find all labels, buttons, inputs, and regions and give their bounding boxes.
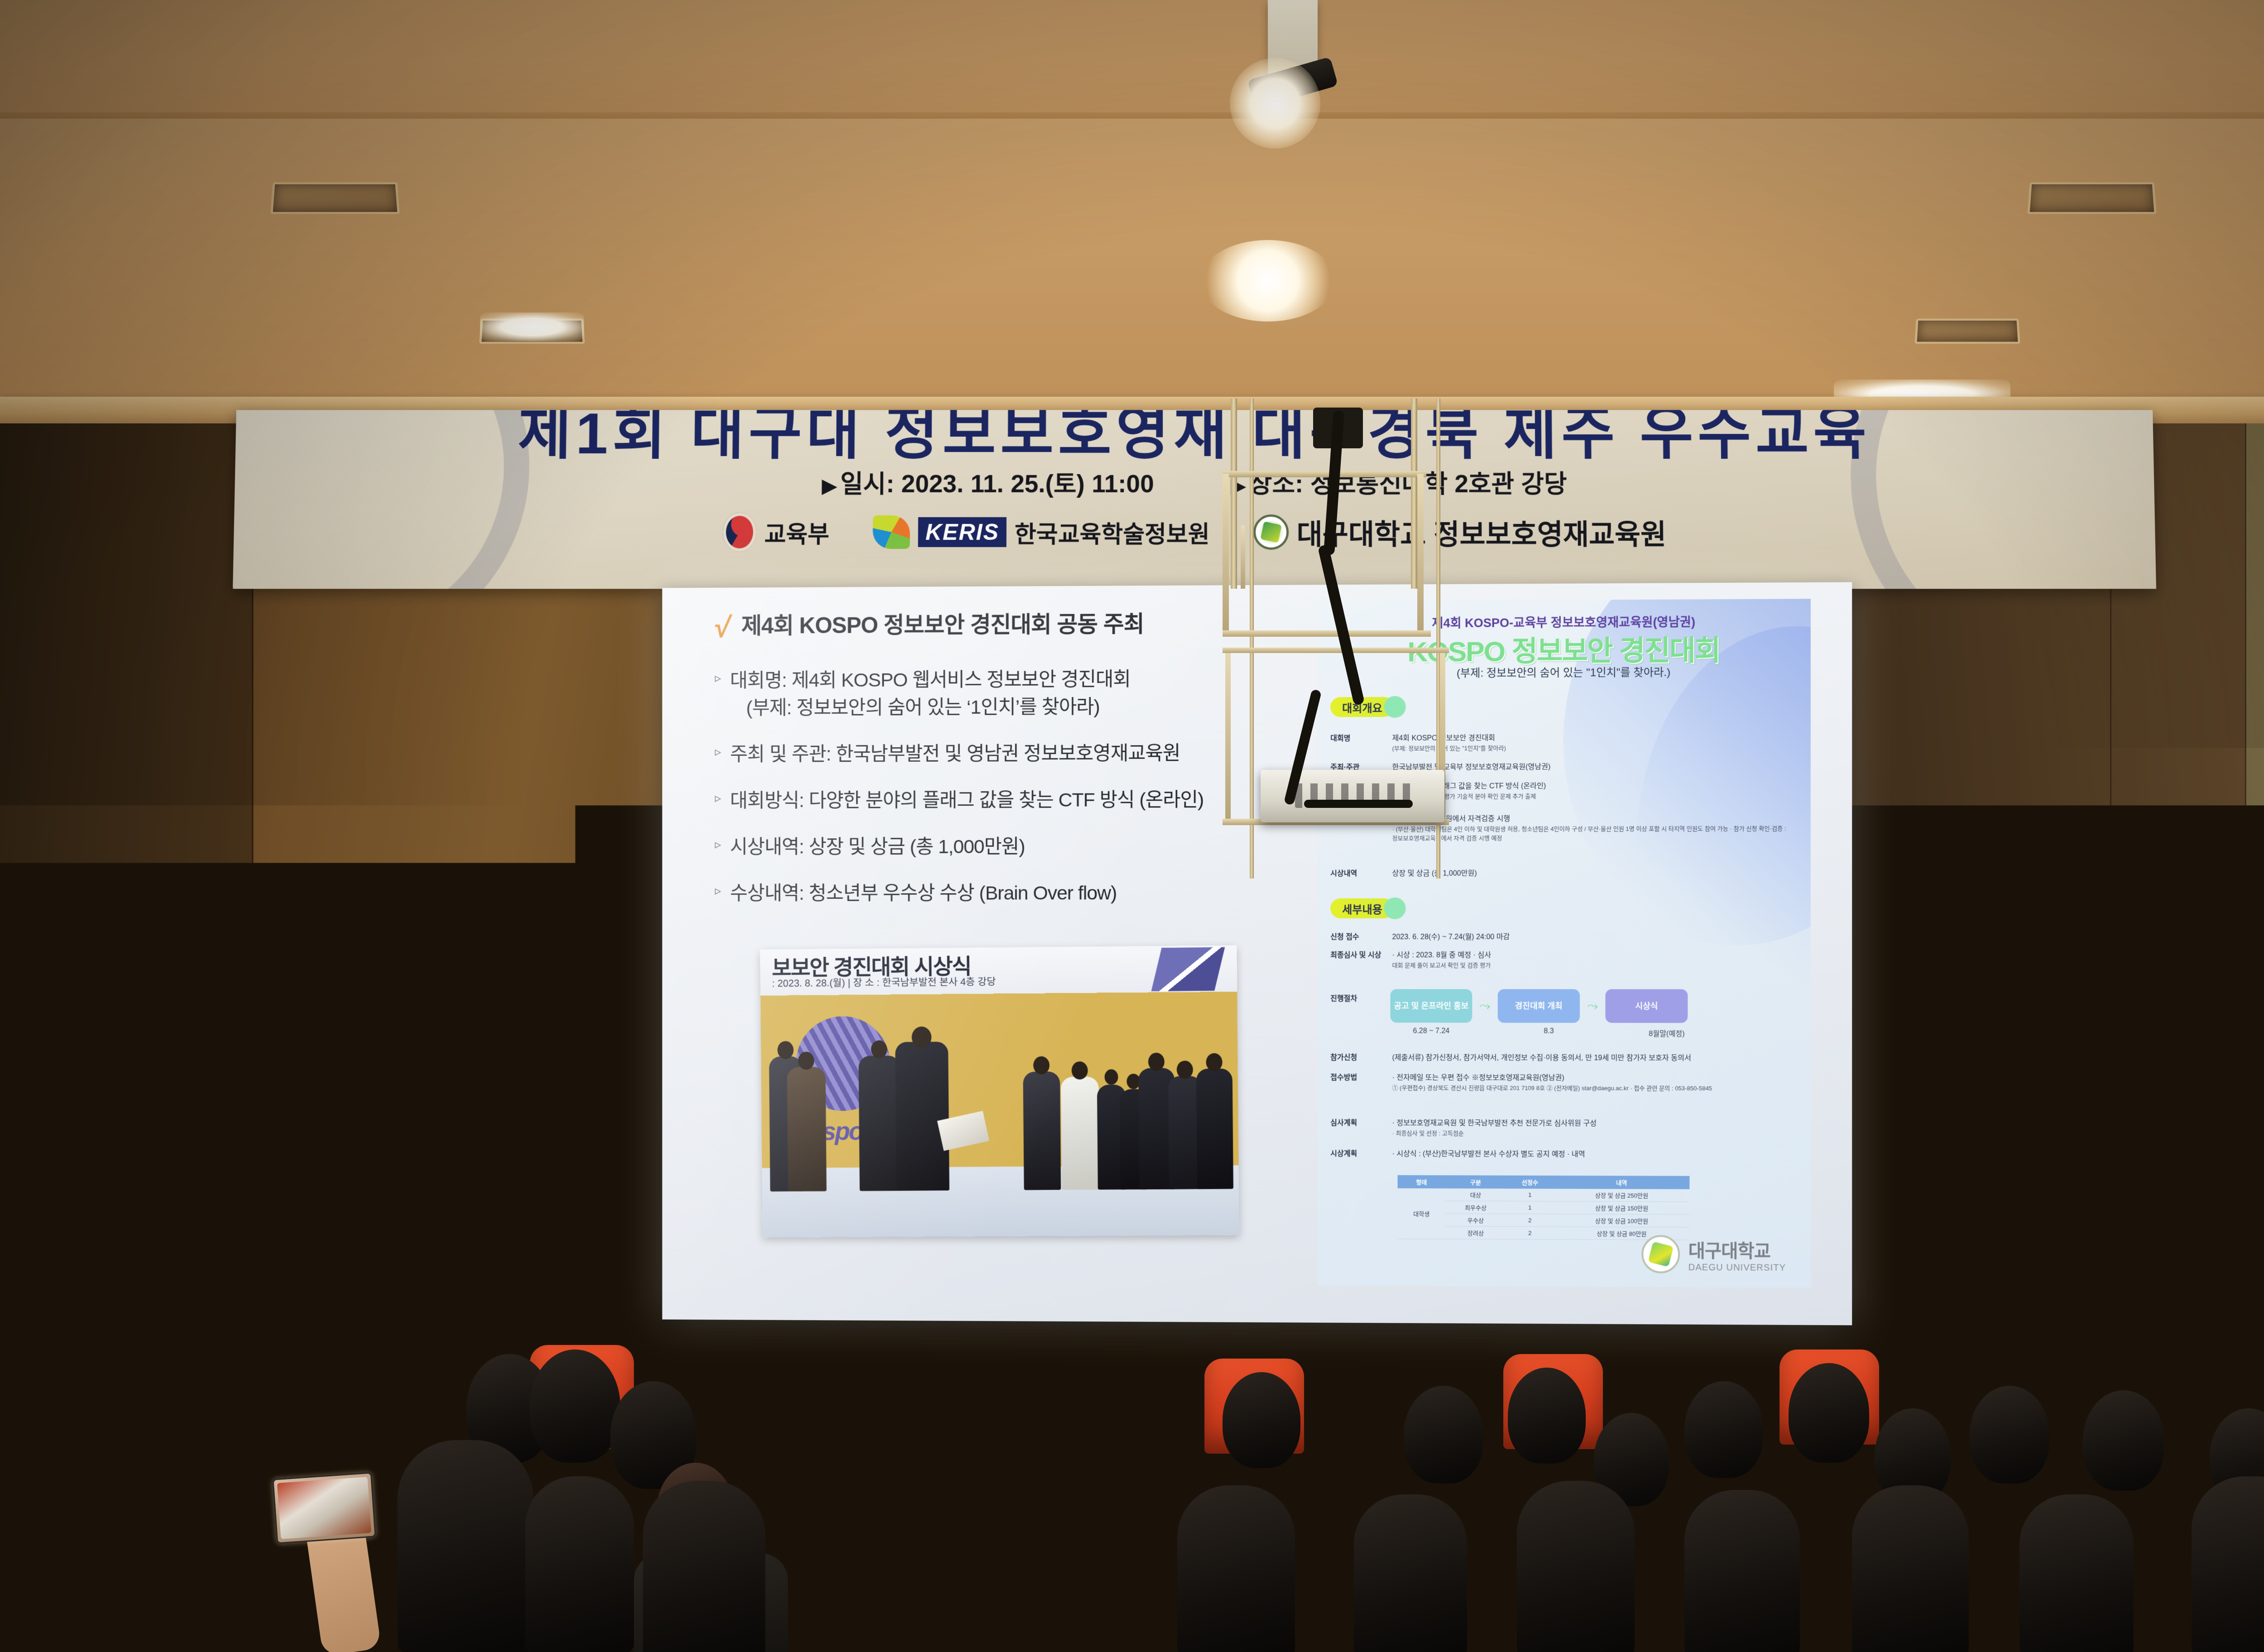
audience-head (299, 1395, 357, 1467)
projector-crossbar-mid-r (1417, 474, 1424, 637)
projection-screen: √ 제4회 KOSPO 정보보안 경진대회 공동 주최 ▹ 대회명: 제4회 K… (662, 582, 1852, 1325)
projector-rod-left-2 (1250, 399, 1254, 879)
downlight-1 (1200, 240, 1336, 322)
audience-head (1789, 1363, 1869, 1463)
audience-head (1508, 1368, 1586, 1464)
audience-head-front (1852, 1485, 1969, 1652)
audience-head-front (847, 1494, 960, 1652)
keris-logo-label: 한국교육학술정보원 (1015, 515, 1210, 549)
triangle-icon: ▶ (822, 475, 837, 496)
banner-info-row: ▶일시: 2023. 11. 25.(토) 11:00 ▶장소: 정보통신대학 … (235, 463, 2154, 499)
downlight-3 (480, 312, 584, 341)
wall-right-light-panel (2246, 423, 2264, 1356)
projector-crossbar-bottom (1223, 630, 1431, 637)
moe-logo: 교육부 (723, 513, 830, 552)
audience-head (2083, 1390, 2164, 1491)
projector-crossbar-mid (1223, 474, 1229, 637)
av-equipment-label (2173, 1295, 2204, 1300)
daegu-univ-logo: 대구대학교 정보보호영재교육원 (1253, 512, 1667, 552)
projector-hook (1241, 525, 1245, 589)
audience-head-front (1684, 1490, 1800, 1652)
audience-head-front (398, 1440, 533, 1652)
projector-cable-loop (1304, 800, 1413, 808)
audience-head (1684, 1381, 1763, 1478)
spotlight-glow (1230, 58, 1320, 149)
projector-frame-top (1223, 648, 1449, 653)
audience-head-front (1354, 1494, 1467, 1652)
ceiling-vent-1 (270, 182, 399, 214)
banner-logo-row: 교육부 KERIS 한국교육학술정보원 대구대학교 정보보호영재교육원 (234, 512, 2156, 552)
audience-head-front (102, 1413, 252, 1652)
audience-head-front (643, 1481, 765, 1652)
audience-head-front (2192, 1476, 2264, 1652)
ceiling (0, 0, 2264, 119)
keris-wordmark: KERIS (918, 517, 1007, 547)
projector-rod-left (1231, 399, 1237, 589)
projector-frame-left (1225, 648, 1231, 824)
taegeuk-icon (723, 513, 757, 552)
audience-head (942, 1395, 1026, 1499)
audience-head (530, 1349, 620, 1463)
wall-seam-3 (2245, 423, 2246, 1356)
audience-head (1223, 1372, 1300, 1468)
ceiling-vent-3 (2027, 182, 2156, 214)
audience-head (1970, 1386, 2049, 1484)
daegu-univ-label: 대구대학교 정보보호영재교육원 (1297, 512, 1667, 552)
banner-title: 제1회 대구대 정보보호영재 대구경북 제주 우수교육 (235, 410, 2154, 470)
wall-left-panel (0, 423, 254, 1329)
audience-head-front (1177, 1485, 1295, 1652)
banner-date-label: 일시: (840, 470, 895, 498)
audience-head-front (1014, 1499, 1127, 1652)
audience-head (1404, 1386, 1483, 1484)
daegu-seal-icon (1253, 514, 1289, 550)
keris-mark-icon (873, 515, 910, 549)
audience-head (1304, 1422, 1379, 1514)
audience-head-front (2019, 1494, 2134, 1652)
audience-head-front (525, 1476, 634, 1652)
phone-screen (277, 1477, 371, 1539)
ceiling-vent-4 (1914, 319, 2020, 344)
event-banner: 제1회 대구대 정보보호영재 대구경북 제주 우수교육 ▶일시: 2023. 1… (233, 410, 2156, 589)
audience-head (1100, 1404, 1181, 1503)
banner-date-value: 2023. 11. 25.(토) 11:00 (901, 470, 1154, 498)
banner-date: ▶일시: 2023. 11. 25.(토) 11:00 (822, 463, 1154, 499)
audience-head (37, 1340, 123, 1445)
screen-glare (662, 582, 1852, 1325)
keris-logo: KERIS 한국교육학술정보원 (873, 515, 1209, 549)
audience-head-front (1517, 1481, 1635, 1652)
moe-logo-label: 교육부 (764, 515, 830, 549)
auditorium-scene: 제1회 대구대 정보보호영재 대구경북 제주 우수교육 ▶일시: 2023. 1… (0, 0, 2264, 1652)
projector-rod-right (1411, 399, 1417, 589)
banner-place: ▶장소: 정보통신대학 2호관 강당 (1231, 463, 1567, 499)
projector-crossbar-top (1223, 471, 1426, 477)
